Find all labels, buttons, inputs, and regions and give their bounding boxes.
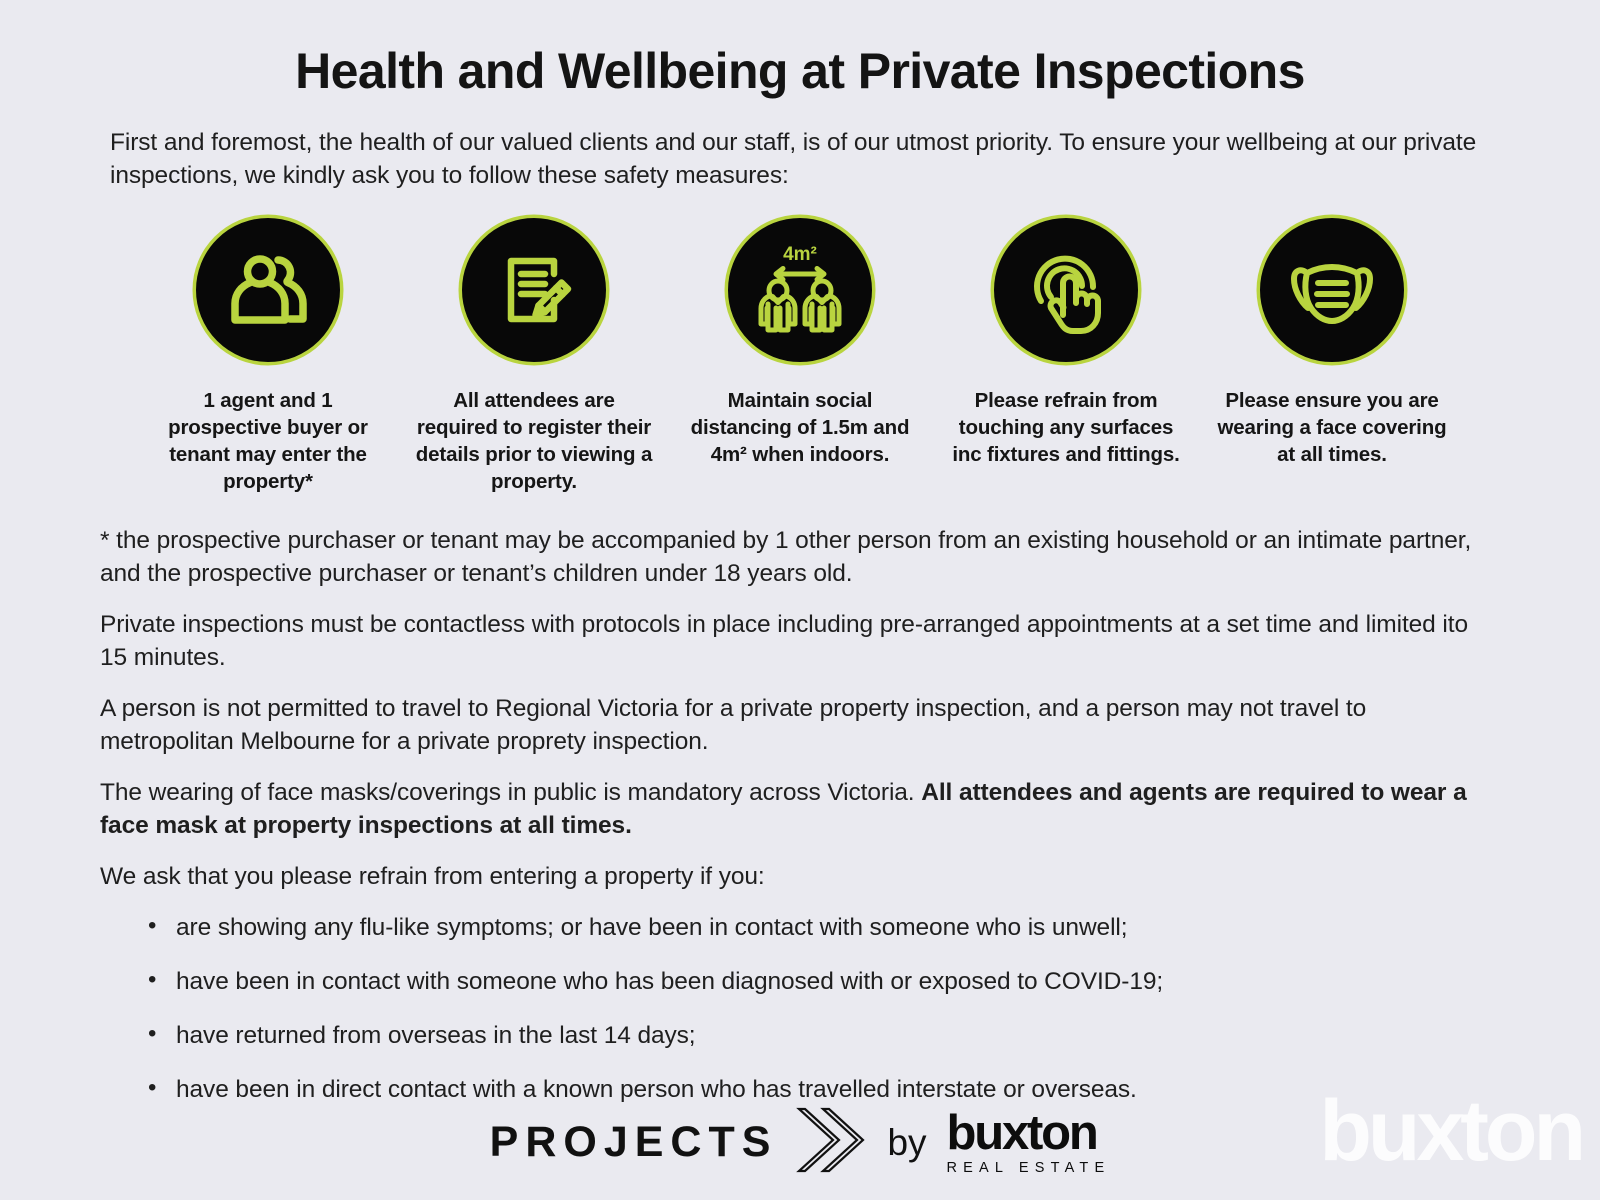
measure-caption: Please refrain from touching any surface… [943,387,1189,469]
measure-card-no-touch: Please refrain from touching any surface… [943,215,1189,496]
list-item: have returned from overseas in the last … [148,1019,1500,1052]
buxton-logo: buxton REAL ESTATE [947,1110,1111,1175]
measure-caption: Please ensure you are wearing a face cov… [1209,387,1455,469]
document-pencil-icon [459,215,609,365]
buxton-tagline: REAL ESTATE [947,1161,1111,1176]
measure-card-distancing: 4m² Maintain social dist [677,215,923,496]
measure-caption: Maintain social distancing of 1.5m and 4… [677,387,923,469]
face-mask-paragraph: The wearing of face masks/coverings in p… [100,776,1500,842]
projects-wordmark: PROJECTS [490,1121,778,1164]
social-distancing-icon: 4m² [725,215,875,365]
by-label: by [887,1124,926,1161]
measure-caption: All attendees are required to register t… [411,387,657,496]
measure-card-register: All attendees are required to register t… [411,215,657,496]
measure-card-face-covering: Please ensure you are wearing a face cov… [1209,215,1455,496]
distancing-badge-label: 4m² [783,244,817,265]
two-people-icon [193,215,343,365]
brand-lockup: PROJECTS by buxton REAL ESTATE [490,1103,1111,1182]
intro-paragraph: First and foremost, the health of our va… [110,126,1490,193]
body-content: * the prospective purchaser or tenant ma… [100,524,1500,1107]
buxton-wordmark: buxton [947,1110,1111,1157]
measure-caption: 1 agent and 1 prospective buyer or tenan… [145,387,391,496]
buxton-watermark: buxton [1319,1088,1582,1174]
travel-paragraph: A person is not permitted to travel to R… [100,692,1500,758]
contactless-paragraph: Private inspections must be contactless … [100,608,1500,674]
list-item: have been in direct contact with a known… [148,1073,1500,1106]
face-mask-icon [1257,215,1407,365]
refrain-bullet-list: are showing any flu-like symptoms; or ha… [100,911,1500,1106]
list-item: have been in contact with someone who ha… [148,965,1500,998]
safety-measures-icon-row: 1 agent and 1 prospective buyer or tenan… [145,215,1455,496]
refrain-lead-paragraph: We ask that you please refrain from ente… [100,860,1500,893]
footnote-paragraph: * the prospective purchaser or tenant ma… [100,524,1500,590]
face-mask-text-normal: The wearing of face masks/coverings in p… [100,779,921,806]
poster-page: Health and Wellbeing at Private Inspecti… [0,0,1600,1200]
list-item: are showing any flu-like symptoms; or ha… [148,911,1500,944]
page-title: Health and Wellbeing at Private Inspecti… [0,0,1600,99]
hand-tap-icon [991,215,1141,365]
double-chevron-right-icon [795,1103,867,1182]
measure-card-occupancy: 1 agent and 1 prospective buyer or tenan… [145,215,391,496]
